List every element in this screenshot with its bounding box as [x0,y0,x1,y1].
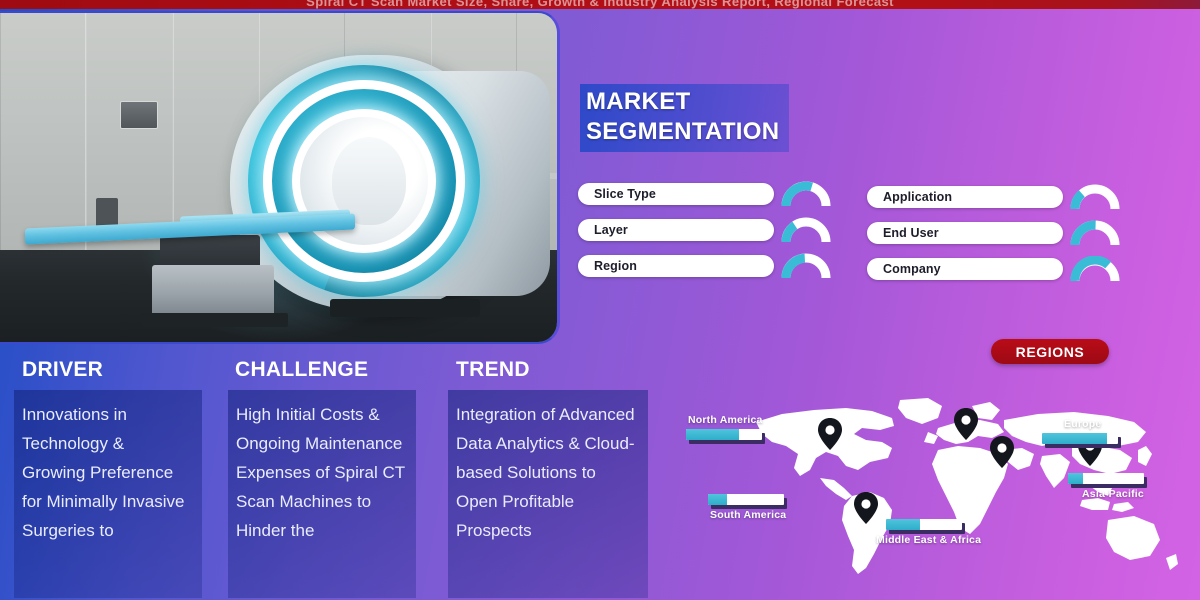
region-asia-pacific: Asia-Pacific [1068,473,1144,500]
region-label-asia-pacific: Asia-Pacific [1082,488,1144,500]
segmentation-pill-end-user[interactable]: End User [867,222,1063,244]
photo-wall-control-panel [120,101,158,129]
market-segmentation-title-line2: SEGMENTATION [586,117,779,147]
segmentation-pill-application[interactable]: Application [867,186,1063,208]
bar-fill [686,429,739,440]
insight-heading-driver: DRIVER [0,356,216,384]
segmentation-row: Layer [578,217,849,243]
photo-machine-base [330,299,480,317]
segmentation-row: Application [867,184,1138,210]
insight-heading-trend: TREND [438,356,678,384]
segmentation-row: Company [867,256,1138,282]
region-bar-north-america [686,429,762,440]
region-bar-asia-pacific [1068,473,1144,484]
insight-body-challenge: High Initial Costs & Ongoing Maintenance… [228,390,416,598]
region-north-america: North America [686,414,763,440]
segmentation-row: Region [578,253,849,279]
region-europe: Europe [1042,418,1118,444]
region-south-america: South America [708,494,786,521]
bar-track [1042,433,1118,444]
gauge-slice-type [781,181,831,207]
infographic-page: Spiral CT Scan Market Size, Share, Growt… [0,0,1200,600]
gauge-application [1070,184,1120,210]
segmentation-column-left: Slice Type Layer Region [578,181,849,282]
bar-track [708,494,784,505]
region-middle-east-africa: Middle East & Africa [886,519,981,546]
segmentation-pill-slice-type[interactable]: Slice Type [578,183,774,205]
region-label-middle-east-africa: Middle East & Africa [876,534,981,546]
gauge-layer [781,217,831,243]
insight-card-driver: DRIVER Innovations in Technology & Growi… [0,356,216,598]
region-label-europe: Europe [1064,418,1118,430]
gauge-company [1070,256,1120,282]
market-segmentation-title-line1: MARKET [586,87,779,117]
region-bar-europe [1042,433,1118,444]
insight-cards: DRIVER Innovations in Technology & Growi… [0,356,678,600]
bar-track [1068,473,1144,484]
region-bar-south-america [708,494,784,505]
photo-table-foot [142,313,288,327]
top-banner-strip: Spiral CT Scan Market Size, Share, Growt… [0,0,1200,9]
gauge-region [781,253,831,279]
market-segmentation-title: MARKET SEGMENTATION [580,84,789,152]
insight-card-challenge: CHALLENGE High Initial Costs & Ongoing M… [216,356,432,598]
insight-body-trend: Integration of Advanced Data Analytics &… [448,390,648,598]
ct-scanner-photo [0,11,560,344]
segmentation-pill-company[interactable]: Company [867,258,1063,280]
insight-body-driver: Innovations in Technology & Growing Pref… [14,390,202,598]
bar-fill [708,494,727,505]
segmentation-column-right: Application End User Com [867,184,1138,282]
photo-table-column [160,235,260,269]
segmentation-row: End User [867,220,1138,246]
bar-fill [1042,433,1107,444]
insight-card-trend: TREND Integration of Advanced Data Analy… [438,356,678,598]
regions-badge: REGIONS [991,339,1109,364]
segmentation-pill-region[interactable]: Region [578,255,774,277]
region-bar-middle-east-africa [886,519,962,530]
top-banner-text: Spiral CT Scan Market Size, Share, Growt… [0,0,1200,6]
insight-heading-challenge: CHALLENGE [216,356,432,384]
bar-fill [886,519,920,530]
bar-track [886,519,962,530]
segmentation-grid: Slice Type Layer Region [578,181,1138,282]
region-label-south-america: South America [710,509,786,521]
gauge-end-user [1070,220,1120,246]
segmentation-pill-layer[interactable]: Layer [578,219,774,241]
region-label-north-america: North America [688,414,763,426]
bar-track [686,429,762,440]
segmentation-row: Slice Type [578,181,849,207]
photo-table-base [152,265,274,317]
bar-fill [1068,473,1083,484]
